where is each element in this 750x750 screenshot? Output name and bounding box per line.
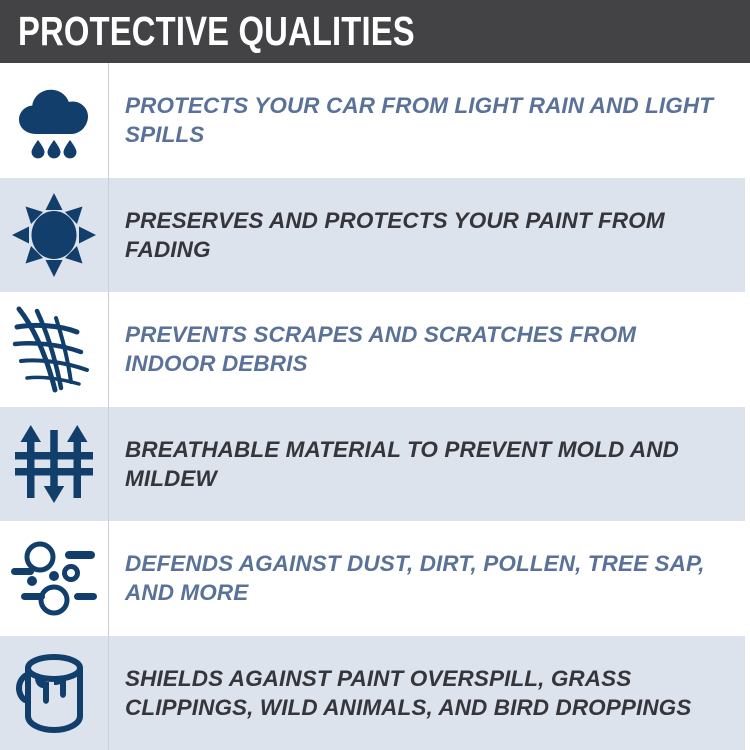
feature-text-cell: DEFENDS AGAINST DUST, DIRT, POLLEN, TREE… (108, 549, 750, 608)
protective-qualities-infographic: PROTECTIVE QUALITIES PROTECTS YOUR CAR F… (0, 0, 750, 750)
column-divider (108, 63, 109, 750)
feature-row-scratches: PREVENTS SCRAPES AND SCRATCHES FROM INDO… (0, 292, 750, 407)
feature-text-cell: SHIELDS AGAINST PAINT OVERSPILL, GRASS C… (108, 664, 750, 723)
dust-particles-icon (0, 521, 108, 636)
feature-text: DEFENDS AGAINST DUST, DIRT, POLLEN, TREE… (125, 549, 732, 608)
rain-cloud-icon (0, 63, 108, 178)
feature-text: BREATHABLE MATERIAL TO PREVENT MOLD AND … (125, 435, 732, 494)
feature-text-cell: PREVENTS SCRAPES AND SCRATCHES FROM INDO… (108, 320, 750, 379)
header-bar: PROTECTIVE QUALITIES (0, 0, 750, 63)
feature-row-rain: PROTECTS YOUR CAR FROM LIGHT RAIN AND LI… (0, 63, 750, 178)
breathable-airflow-icon (0, 407, 108, 522)
feature-text: PRESERVES AND PROTECTS YOUR PAINT FROM F… (125, 206, 732, 265)
feature-text: PROTECTS YOUR CAR FROM LIGHT RAIN AND LI… (125, 91, 732, 150)
feature-row-breathable: BREATHABLE MATERIAL TO PREVENT MOLD AND … (0, 407, 750, 522)
feature-row-sun: PRESERVES AND PROTECTS YOUR PAINT FROM F… (0, 178, 750, 293)
feature-text: PREVENTS SCRAPES AND SCRATCHES FROM INDO… (125, 320, 732, 379)
feature-text-cell: BREATHABLE MATERIAL TO PREVENT MOLD AND … (108, 435, 750, 494)
feature-text: SHIELDS AGAINST PAINT OVERSPILL, GRASS C… (125, 664, 732, 723)
sun-icon (0, 178, 108, 293)
feature-row-paint: SHIELDS AGAINST PAINT OVERSPILL, GRASS C… (0, 636, 750, 750)
scratch-mesh-icon (0, 292, 108, 407)
feature-text-cell: PRESERVES AND PROTECTS YOUR PAINT FROM F… (108, 206, 750, 265)
feature-list: PROTECTS YOUR CAR FROM LIGHT RAIN AND LI… (0, 63, 750, 750)
feature-text-cell: PROTECTS YOUR CAR FROM LIGHT RAIN AND LI… (108, 91, 750, 150)
paint-can-icon (0, 636, 108, 750)
page-title: PROTECTIVE QUALITIES (18, 11, 415, 52)
feature-row-dust: DEFENDS AGAINST DUST, DIRT, POLLEN, TREE… (0, 521, 750, 636)
